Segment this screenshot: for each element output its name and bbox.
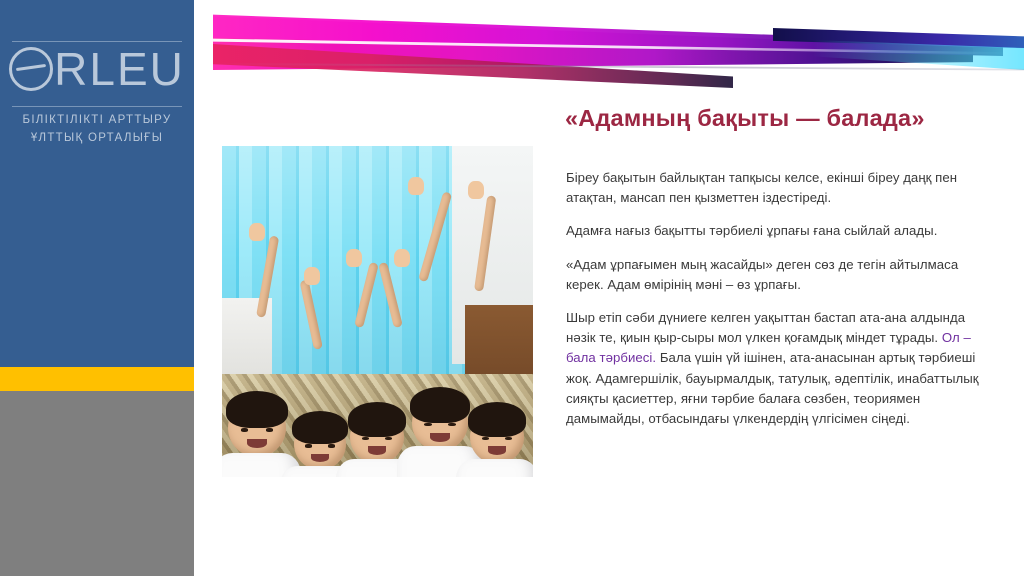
child-figure [228, 399, 286, 457]
decorative-swoosh-banner [213, 0, 1024, 88]
child-hand [304, 267, 320, 285]
sidebar-divider-mid [12, 106, 182, 107]
classroom-children-photo [222, 146, 533, 477]
child-figure [294, 418, 346, 470]
child-hand [408, 177, 424, 195]
presentation-slide: RLEU БІЛІКТІЛІКТІ АРТТЫРУ ҰЛТТЫҚ ОРТАЛЫҒ… [0, 0, 1024, 576]
child-hand [346, 249, 362, 267]
sidebar: RLEU БІЛІКТІЛІКТІ АРТТЫРУ ҰЛТТЫҚ ОРТАЛЫҒ… [0, 0, 194, 576]
slide-body-text: Біреу бақытын байлықтан тапқысы келсе, е… [566, 168, 998, 429]
child-hand [468, 181, 484, 199]
sidebar-subtitle: БІЛІКТІЛІКТІ АРТТЫРУ ҰЛТТЫҚ ОРТАЛЫҒЫ [0, 112, 194, 148]
child-hand [249, 223, 265, 241]
sidebar-divider-top [12, 41, 182, 42]
paragraph-4-before: Шыр етіп сәби дүниеге келген уақыттан ба… [566, 310, 965, 345]
paragraph-2: Адамға нағыз бақытты тәрбиелі ұрпағы ған… [566, 221, 998, 241]
child-figure [412, 395, 468, 451]
orleu-logo: RLEU [0, 46, 194, 96]
sidebar-subtitle-line-2: ҰЛТТЫҚ ОРТАЛЫҒЫ [0, 130, 194, 148]
child-figure [470, 410, 524, 464]
child-figure [350, 410, 404, 464]
paragraph-4: Шыр етіп сәби дүниеге келген уақыттан ба… [566, 308, 998, 429]
sidebar-gray-panel [0, 391, 194, 576]
paragraph-3: «Адам ұрпағымен мың жасайды» деген сөз д… [566, 255, 998, 295]
sidebar-yellow-accent-bar [0, 367, 194, 391]
logo-wordmark: RLEU [9, 46, 185, 92]
logo-letters: RLEU [54, 46, 185, 92]
child-hand [394, 249, 410, 267]
slide-title: «Адамның бақыты — балада» [565, 104, 995, 132]
sidebar-subtitle-line-1: БІЛІКТІЛІКТІ АРТТЫРУ [0, 112, 194, 130]
swoosh-cyan-arc [813, 40, 1024, 88]
paragraph-1: Біреу бақытын байлықтан тапқысы келсе, е… [566, 168, 998, 208]
theta-letter-icon [9, 47, 53, 91]
